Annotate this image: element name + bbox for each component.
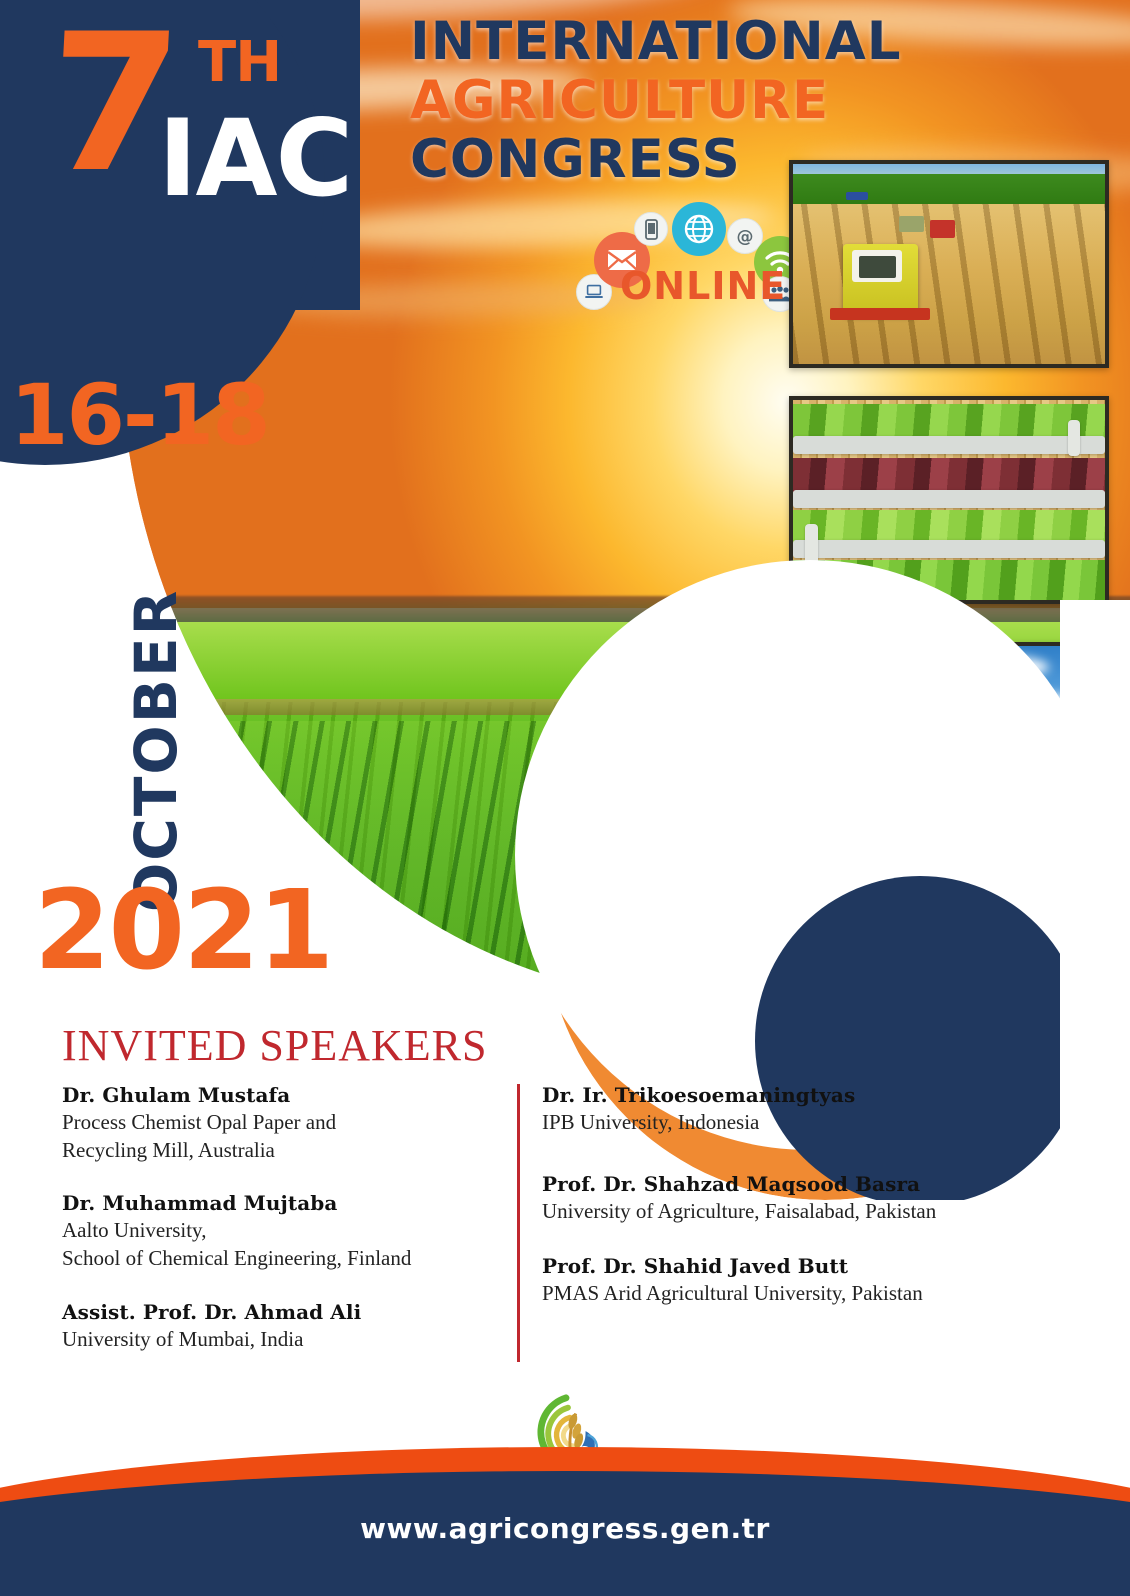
title-line-international: INTERNATIONAL — [410, 14, 970, 69]
speaker-entry: Assist. Prof. Dr. Ahmad Ali University o… — [62, 1299, 517, 1354]
harvester-wheat-field-photo — [789, 160, 1109, 368]
speaker-name: Dr. Ir. Trikoesoemaningtyas — [542, 1082, 1062, 1109]
speaker-name: Dr. Muhammad Mujtaba — [62, 1190, 517, 1217]
speaker-entry: Dr. Ir. Trikoesoemaningtyas IPB Universi… — [542, 1082, 1062, 1137]
speakers-columns: Dr. Ghulam Mustafa Process Chemist Opal … — [62, 1082, 1072, 1380]
congress-acronym: IAC — [158, 106, 351, 212]
online-badge: @ ONLINE — [572, 196, 792, 308]
event-month: OCTOBER — [122, 552, 184, 912]
speaker-entry: Dr. Ghulam Mustafa Process Chemist Opal … — [62, 1082, 517, 1164]
speakers-heading: INVITED SPEAKERS — [62, 1020, 487, 1071]
speaker-name: Dr. Ghulam Mustafa — [62, 1082, 517, 1109]
event-year: 2021 — [34, 866, 332, 994]
speakers-left-column: Dr. Ghulam Mustafa Process Chemist Opal … — [62, 1082, 517, 1380]
phone-icon — [634, 212, 668, 246]
speaker-entry: Prof. Dr. Shahzad Maqsood Basra Universi… — [542, 1171, 1062, 1226]
globe-icon — [672, 202, 726, 256]
title-line-agriculture: AGRICULTURE — [410, 73, 970, 128]
speaker-affiliation: IPB University, Indonesia — [542, 1109, 1062, 1137]
speaker-entry: Prof. Dr. Shahid Javed Butt PMAS Arid Ag… — [542, 1253, 1062, 1308]
edition-suffix: TH — [198, 30, 281, 95]
speaker-name: Prof. Dr. Shahid Javed Butt — [542, 1253, 1062, 1280]
speaker-entry: Dr. Muhammad Mujtaba Aalto University, S… — [62, 1190, 517, 1272]
event-days: 16-18 — [10, 366, 269, 464]
congress-poster: 7 TH IAC INTERNATIONAL AGRICULTURE CONGR… — [0, 0, 1130, 1596]
column-divider — [517, 1084, 520, 1362]
online-label: ONLINE — [620, 264, 786, 308]
speaker-affiliation: University of Agriculture, Faisalabad, P… — [542, 1198, 1062, 1226]
speakers-right-column: Dr. Ir. Trikoesoemaningtyas IPB Universi… — [542, 1082, 1062, 1380]
speaker-affiliation: Process Chemist Opal Paper and Recycling… — [62, 1109, 517, 1164]
speaker-name: Assist. Prof. Dr. Ahmad Ali — [62, 1299, 517, 1326]
speaker-affiliation: PMAS Arid Agricultural University, Pakis… — [542, 1280, 1062, 1308]
speaker-affiliation: Aalto University, School of Chemical Eng… — [62, 1217, 517, 1272]
speaker-affiliation: University of Mumbai, India — [62, 1326, 517, 1354]
website-url[interactable]: www.agricongress.gen.tr — [0, 1512, 1130, 1545]
speaker-name: Prof. Dr. Shahzad Maqsood Basra — [542, 1171, 1062, 1198]
svg-text:@: @ — [737, 227, 754, 247]
